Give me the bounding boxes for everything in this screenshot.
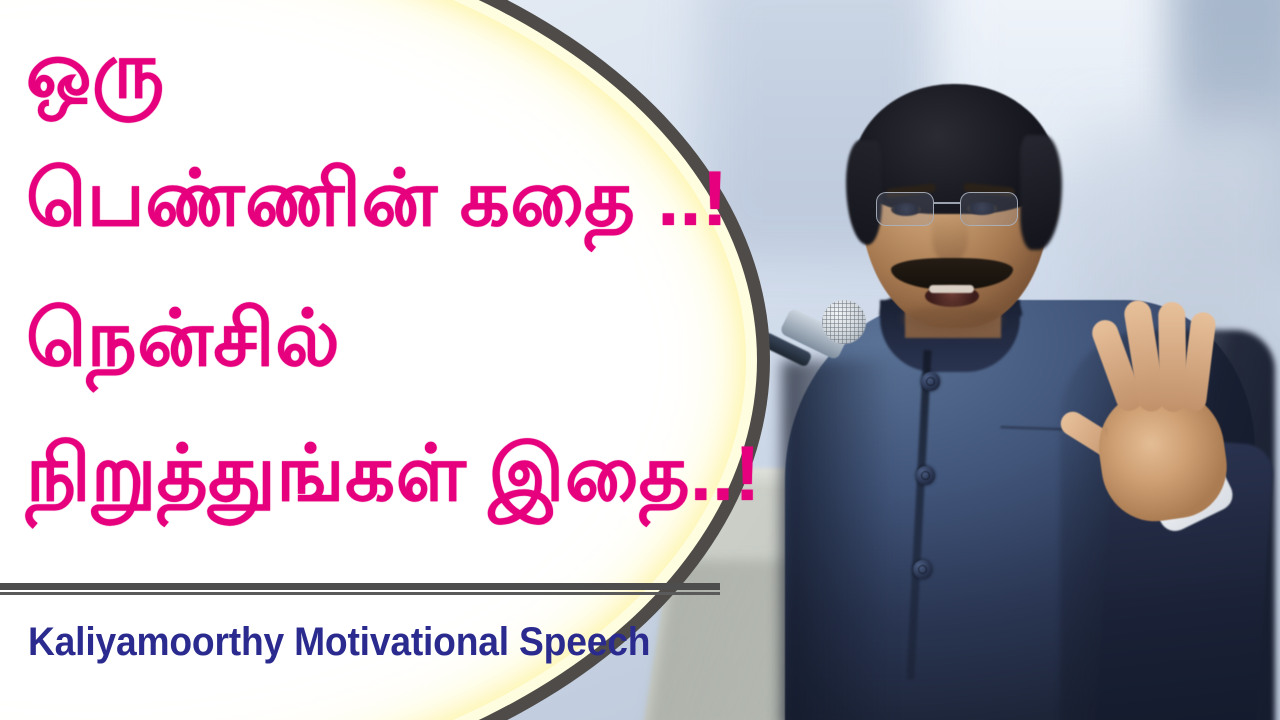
nose xyxy=(932,212,968,264)
hair-sideburn-right xyxy=(1020,135,1062,250)
title-line-4: நிறுத்துங்கள் இதை..! xyxy=(26,425,761,521)
video-thumbnail: ஒரு பெண்ணின் கதை ..! நென்சில் நிறுத்துங்… xyxy=(0,0,1280,720)
jacket-button xyxy=(921,372,940,391)
jacket-button xyxy=(916,466,935,485)
chin-shadow xyxy=(902,306,1002,332)
divider xyxy=(0,583,720,597)
jacket-button xyxy=(913,560,932,579)
teeth xyxy=(929,285,974,293)
jacket-shadow-left xyxy=(782,360,892,720)
microphone-mesh xyxy=(822,300,866,344)
title-text-block: ஒரு பெண்ணின் கதை ..! நென்சில் நிறுத்துங்… xyxy=(0,0,780,720)
subtitle: Kaliyamoorthy Motivational Speech xyxy=(28,620,650,665)
title-line-1: ஒரு xyxy=(26,22,165,118)
title-line-2: பெண்ணின் கதை ..! xyxy=(26,150,728,246)
title-line-3: நென்சில் xyxy=(26,290,340,386)
palm-lines xyxy=(1105,413,1215,506)
